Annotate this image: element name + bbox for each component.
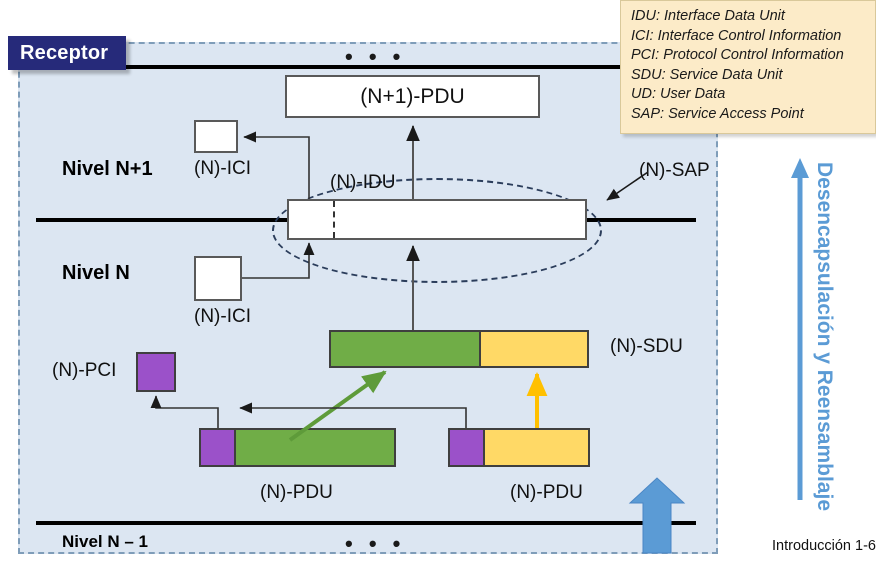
pci-label: (N)-PCI (52, 360, 116, 382)
ici-label-lower: (N)-ICI (194, 306, 251, 328)
pdu-left-pci-segment (199, 428, 236, 467)
pdu-n-plus-1-box: (N+1)-PDU (285, 75, 540, 118)
sdu-segment-green (329, 330, 481, 368)
desencapsulation-caption-wrap: Desencapsulación y Reensamblaje (836, 162, 866, 512)
sap-label: (N)-SAP (639, 160, 710, 182)
receptor-badge: Receptor (8, 36, 126, 70)
sdu-label: (N)-SDU (610, 336, 683, 358)
legend-entry-sap: SAP: Service Access Point (631, 105, 867, 125)
pdu-left-data-segment (236, 428, 396, 467)
level-divider-bottom (36, 521, 696, 525)
pdu-right-data-segment (485, 428, 590, 467)
desencapsulation-caption: Desencapsulación y Reensamblaje (812, 162, 836, 511)
ici-box-upper (194, 120, 238, 153)
sdu-bar (329, 330, 589, 368)
pdu-left-row (199, 428, 396, 467)
idu-box (287, 199, 587, 240)
legend-entry-ud: UD: User Data (631, 85, 867, 105)
pdu-left-label: (N)-PDU (260, 482, 333, 504)
legend-entry-ici: ICI: Interface Control Information (631, 27, 867, 47)
level-label-n: Nivel N (62, 262, 130, 285)
legend-entry-idu: IDU: Interface Data Unit (631, 7, 867, 27)
sdu-segment-yellow (481, 330, 589, 368)
level-label-n-plus-1: Nivel N+1 (62, 158, 153, 181)
pci-box (136, 352, 176, 392)
ellipsis-dots-top: • • • (345, 46, 405, 68)
ici-label-upper: (N)-ICI (194, 158, 251, 180)
idu-divider (333, 201, 335, 238)
desencapsulation-arrow-head (791, 158, 809, 178)
legend-entry-sdu: SDU: Service Data Unit (631, 66, 867, 86)
legend-entry-pci: PCI: Protocol Control Information (631, 46, 867, 66)
level-label-n-minus-1: Nivel N – 1 (62, 532, 148, 552)
ellipsis-dots-bottom: • • • (345, 533, 405, 555)
slide-footer: Introducción 1-6 (772, 538, 876, 554)
idu-label: (N)-IDU (330, 172, 395, 194)
abbreviation-legend: IDU: Interface Data Unit ICI: Interface … (620, 0, 876, 134)
pdu-right-row (448, 428, 590, 467)
pdu-right-label: (N)-PDU (510, 482, 583, 504)
ici-box-lower (194, 256, 242, 301)
receptor-stack-panel (18, 42, 718, 554)
pdu-right-pci-segment (448, 428, 485, 467)
